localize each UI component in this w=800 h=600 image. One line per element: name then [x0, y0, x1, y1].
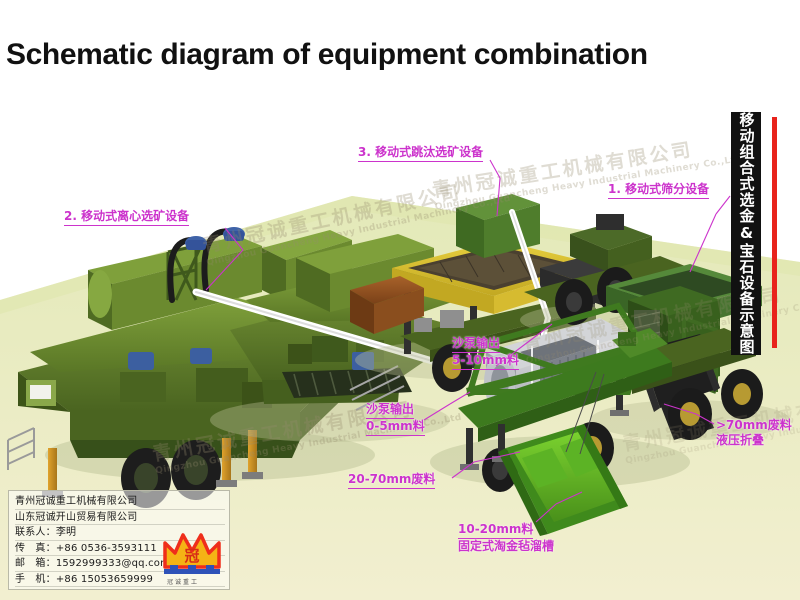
contact-fax-label: 传 真： [15, 541, 56, 557]
callout-waste-70: >70mm废料 液压折叠 [716, 418, 792, 448]
svg-text:冠: 冠 [184, 547, 199, 565]
contact-card: 青州冠诚重工机械有限公司 山东冠诚开山贸易有限公司 联系人：李明 传 真：+86… [8, 490, 230, 590]
callout-waste-70-line2: 液压折叠 [716, 433, 792, 448]
contact-email-value: 1592999333@qq.com [56, 558, 170, 569]
callout-sluice-10-20-line1: 10-20mm料 [458, 522, 533, 539]
logo-subtext: 冠诚重工 [167, 577, 199, 586]
callout-centrifugal: 2. 移动式离心选矿设备 [64, 209, 189, 226]
callout-pump-5-10-line2: 5-10mm料 [452, 353, 519, 370]
contact-person-label: 联系人： [15, 525, 56, 541]
callout-pump-5-10-line1: 沙泵输出 [452, 336, 500, 353]
contact-company-1: 青州冠诚重工机械有限公司 [15, 494, 225, 510]
callout-waste-20-70-label: 20-70mm废料 [348, 472, 435, 489]
vertical-banner-text: 移动组合式选金&宝石设备示意图 [739, 112, 754, 355]
vertical-banner: 移动组合式选金&宝石设备示意图 [731, 112, 761, 355]
callout-sluice-10-20-line2: 固定式淘金毡溜槽 [458, 539, 554, 554]
schematic-diagram-page: 青州冠诚重工机械有限公司 Qingzhou Guancheng Heavy In… [0, 0, 800, 600]
contact-mobile-value: +86 15053659999 [56, 574, 153, 585]
callout-screening-label: 1. 移动式筛分设备 [608, 182, 709, 199]
callout-pump-0-5-line2: 0-5mm料 [366, 419, 425, 436]
contact-mobile-label: 手 机： [15, 572, 56, 588]
contact-email-label: 邮 箱： [15, 556, 56, 572]
red-accent-bar [772, 117, 777, 348]
callout-pump-0-5-line1: 沙泵输出 [366, 402, 414, 419]
callout-waste-20-70: 20-70mm废料 [348, 472, 435, 489]
contact-company-2: 山东冠诚开山贸易有限公司 [15, 510, 225, 526]
callout-waste-70-line1: >70mm废料 [716, 418, 792, 432]
callout-centrifugal-label: 2. 移动式离心选矿设备 [64, 209, 189, 226]
page-title: Schematic diagram of equipment combinati… [6, 38, 648, 72]
callout-jig: 3. 移动式跳汰选矿设备 [358, 145, 483, 162]
contact-person-value: 李明 [56, 527, 76, 538]
company-logo: 冠 冠诚重工 [161, 527, 223, 585]
contact-fax-value: +86 0536-3593111 [56, 543, 157, 554]
callout-pump-0-5: 沙泵输出 0-5mm料 [366, 402, 425, 436]
callout-sluice-10-20: 10-20mm料 固定式淘金毡溜槽 [458, 522, 554, 554]
callout-pump-5-10: 沙泵输出 5-10mm料 [452, 336, 519, 370]
callout-jig-label: 3. 移动式跳汰选矿设备 [358, 145, 483, 162]
callout-screening: 1. 移动式筛分设备 [608, 182, 709, 199]
